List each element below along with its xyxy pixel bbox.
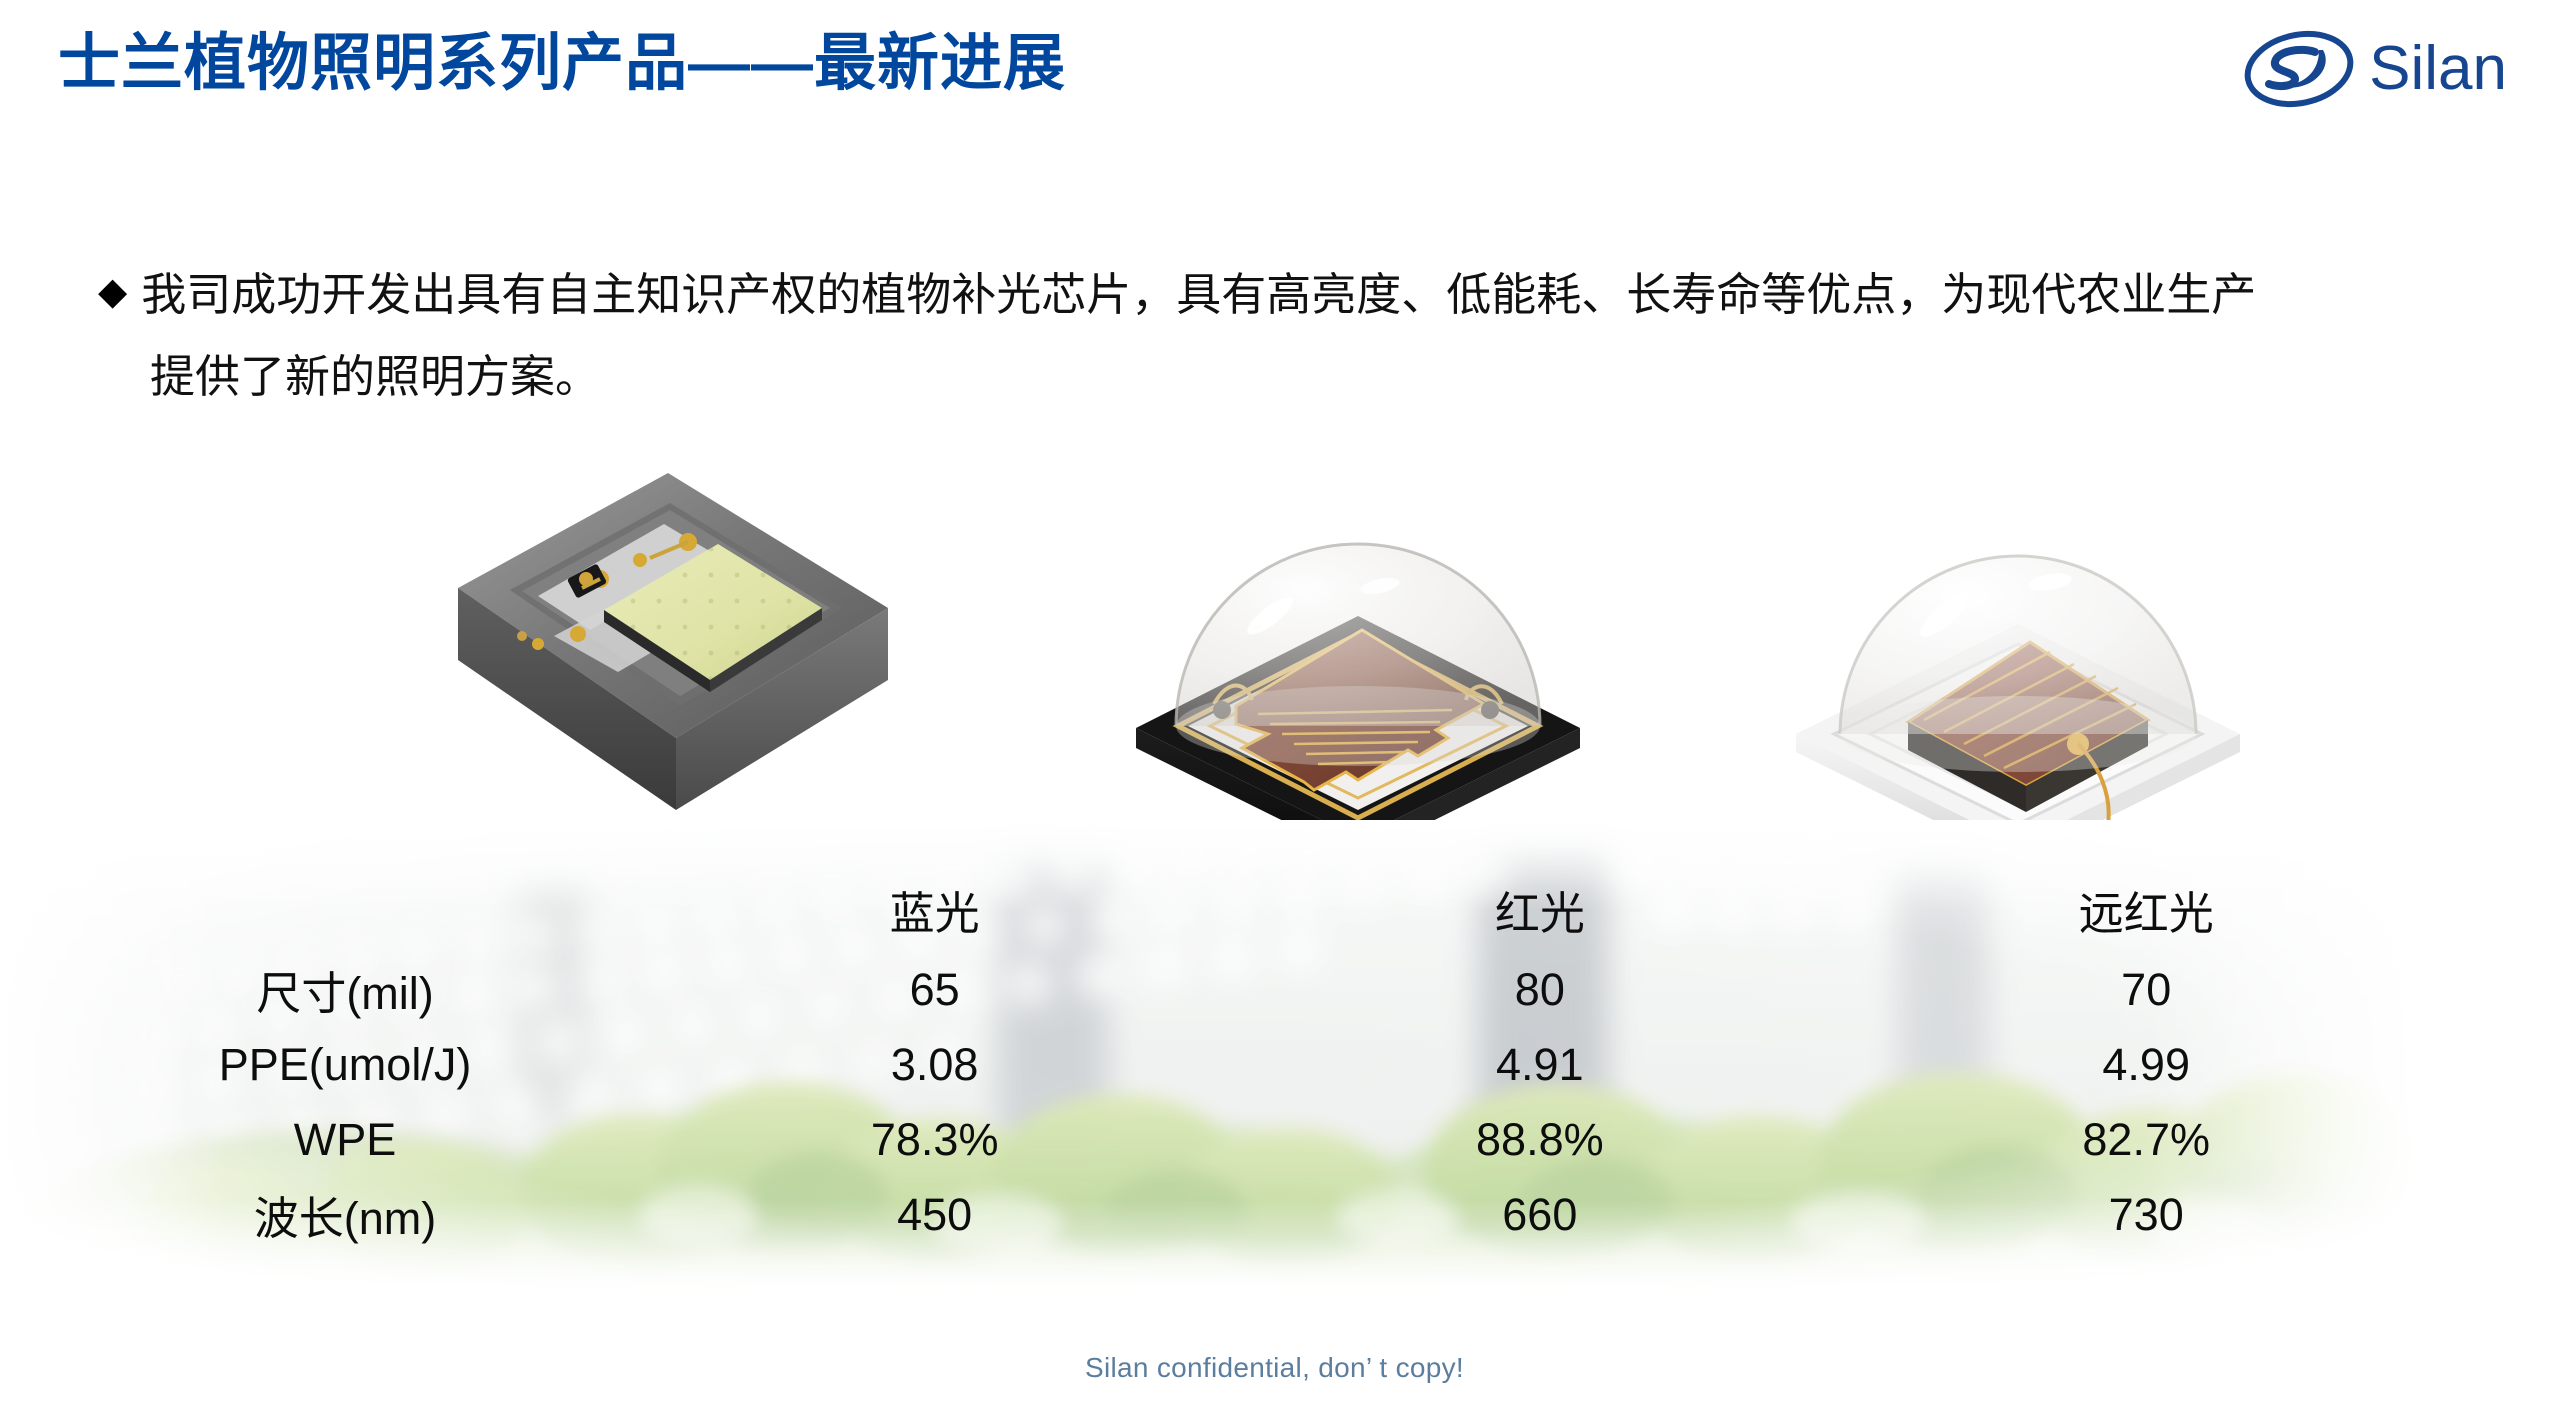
cell-wpe-red: 88.8% xyxy=(1237,1102,1842,1177)
cell-ppe-blue: 3.08 xyxy=(632,1027,1237,1102)
product-image-strip xyxy=(0,438,2549,858)
row-label-wpe: WPE xyxy=(58,1102,632,1177)
cell-wavelength-far-red: 730 xyxy=(1842,1177,2450,1252)
bullet-text-line-2: 提供了新的照明方案。 xyxy=(150,344,2478,410)
table-header-row: 蓝光 红光 远红光 xyxy=(58,866,2450,952)
row-label-ppe: PPE(umol/J) xyxy=(58,1027,632,1102)
cell-wavelength-red: 660 xyxy=(1237,1177,1842,1252)
brand-wordmark: Silan xyxy=(2369,38,2507,100)
table-row: 波长(nm) 450 660 730 xyxy=(58,1177,2450,1252)
cell-size-far-red: 70 xyxy=(1842,952,2450,1027)
cell-size-red: 80 xyxy=(1237,952,1842,1027)
page-title: 士兰植物照明系列产品——最新进展 xyxy=(58,28,1066,99)
cell-ppe-far-red: 4.99 xyxy=(1842,1027,2450,1102)
brand-logo: Silan xyxy=(2243,30,2507,108)
spec-table: 蓝光 红光 远红光 尺寸(mil) 65 80 70 PPE(umol/J) 3… xyxy=(58,866,2450,1252)
sl-ellipse-icon xyxy=(2243,30,2355,108)
header-cell-far-red: 远红光 xyxy=(1842,866,2450,952)
confidential-footer: Silan confidential, don’ t copy! xyxy=(0,1352,2549,1384)
cell-size-blue: 65 xyxy=(632,952,1237,1027)
cell-wpe-far-red: 82.7% xyxy=(1842,1102,2450,1177)
spec-table-region: 蓝光 红光 远红光 尺寸(mil) 65 80 70 PPE(umol/J) 3… xyxy=(58,866,2450,1276)
cell-ppe-red: 4.91 xyxy=(1237,1027,1842,1102)
header-cell-red: 红光 xyxy=(1237,866,1842,952)
product-image-red-led-dome xyxy=(1118,438,1598,858)
table-row: 尺寸(mil) 65 80 70 xyxy=(58,952,2450,1027)
bullet-text-line-1: 我司成功开发出具有自主知识产权的植物补光芯片，具有高亮度、低能耗、长寿命等优点，… xyxy=(141,262,2478,328)
spec-table-body: 尺寸(mil) 65 80 70 PPE(umol/J) 3.08 4.91 4… xyxy=(58,952,2450,1252)
row-label-size: 尺寸(mil) xyxy=(58,952,632,1027)
header-cell-blank xyxy=(58,866,632,952)
spec-table-header: 蓝光 红光 远红光 xyxy=(58,866,2450,952)
header-cell-blue: 蓝光 xyxy=(632,866,1237,952)
cell-wavelength-blue: 450 xyxy=(632,1177,1237,1252)
table-row: WPE 78.3% 88.8% 82.7% xyxy=(58,1102,2450,1177)
table-row: PPE(umol/J) 3.08 4.91 4.99 xyxy=(58,1027,2450,1102)
cell-wpe-blue: 78.3% xyxy=(632,1102,1237,1177)
slide-canvas: 士兰植物照明系列产品——最新进展 Silan ◆ 我司成功开发出具有自主知识产权… xyxy=(0,0,2549,1409)
product-image-far-red-led-dome xyxy=(1778,438,2258,858)
bullet-paragraph: ◆ 我司成功开发出具有自主知识产权的植物补光芯片，具有高亮度、低能耗、长寿命等优… xyxy=(98,262,2478,409)
row-label-wavelength: 波长(nm) xyxy=(58,1177,632,1252)
diamond-bullet-icon: ◆ xyxy=(98,262,127,324)
product-image-blue-led-chip xyxy=(418,438,918,858)
